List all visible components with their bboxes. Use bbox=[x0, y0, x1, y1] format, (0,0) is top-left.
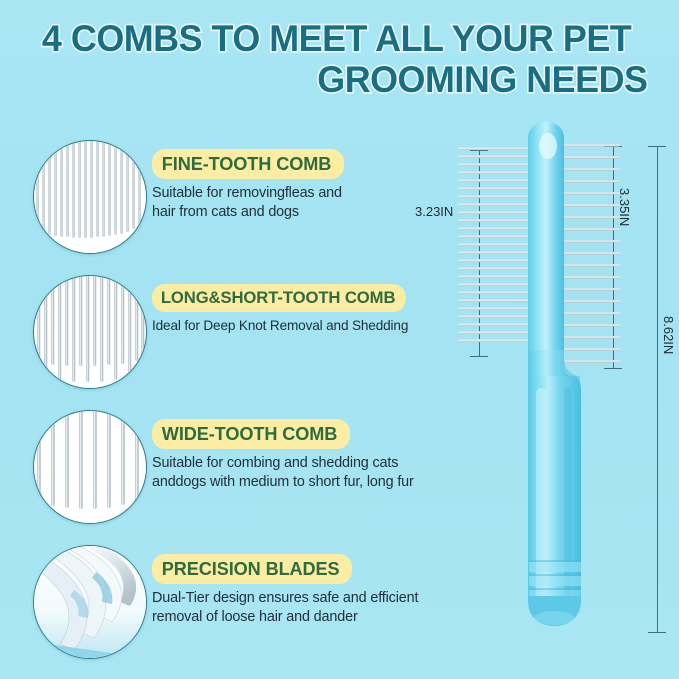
feature-desc-precision-blades: Dual-Tier design ensures safe and effici… bbox=[152, 589, 468, 627]
product-infographic: 4 COMBS TO MEET ALL YOUR PET GROOMING NE… bbox=[0, 0, 679, 679]
long-short-pins-graphic bbox=[34, 276, 146, 388]
fine-tooth-comb-closeup-icon bbox=[33, 140, 147, 254]
feature-long-short-tooth-comb: LONG&SHORT-TOOTH COMB Ideal for Deep Kno… bbox=[0, 270, 470, 400]
blades-graphic bbox=[34, 546, 146, 658]
feature-precision-blades: PRECISION BLADES Dual-Tier design ensure… bbox=[0, 540, 470, 670]
feature-text-wide-tooth: WIDE-TOOTH COMB Suitable for combing and… bbox=[152, 419, 468, 492]
feature-desc-long-short-tooth: Ideal for Deep Knot Removal and Shedding bbox=[152, 317, 468, 335]
comb-illustration bbox=[440, 120, 679, 660]
feature-desc-wide-tooth: Suitable for combing and shedding cats a… bbox=[152, 454, 468, 492]
feature-wide-tooth-comb: WIDE-TOOTH COMB Suitable for combing and… bbox=[0, 405, 470, 535]
feature-text-long-short-tooth: LONG&SHORT-TOOTH COMB Ideal for Deep Kno… bbox=[152, 284, 468, 335]
title-line-1: 4 COMBS TO MEET ALL YOUR PET bbox=[10, 18, 669, 59]
feature-heading-precision-blades: PRECISION BLADES bbox=[152, 554, 352, 584]
poster-title: 4 COMBS TO MEET ALL YOUR PET GROOMING NE… bbox=[0, 18, 679, 101]
product-image-pet-grooming-comb bbox=[440, 120, 679, 660]
fine-tooth-row bbox=[458, 147, 534, 342]
feature-text-precision-blades: PRECISION BLADES Dual-Tier design ensure… bbox=[152, 554, 468, 627]
feature-desc-line-1: Dual-Tier design ensures safe and effici… bbox=[152, 589, 468, 608]
wide-pins-graphic bbox=[34, 411, 146, 523]
feature-desc-line-2: anddogs with medium to short fur, long f… bbox=[152, 473, 468, 492]
feature-heading-long-short-tooth: LONG&SHORT-TOOTH COMB bbox=[152, 284, 406, 312]
long-short-tooth-comb-closeup-icon bbox=[33, 275, 147, 389]
title-line-2: GROOMING NEEDS bbox=[10, 59, 669, 100]
feature-heading-fine-tooth: FINE-TOOTH COMB bbox=[152, 149, 344, 179]
feature-desc-line-1: Suitable for removingfleas and bbox=[152, 184, 468, 203]
feature-desc-line-1: Ideal for Deep Knot Removal and Shedding bbox=[152, 317, 468, 335]
feature-desc-line-2: removal of loose hair and dander bbox=[152, 608, 468, 627]
precision-blades-closeup-icon bbox=[33, 545, 147, 659]
feature-fine-tooth-comb: FINE-TOOTH COMB Suitable for removingfle… bbox=[0, 135, 470, 265]
handle-grip-ridges bbox=[529, 560, 581, 596]
wide-tooth-comb-closeup-icon bbox=[33, 410, 147, 524]
feature-desc-line-1: Suitable for combing and shedding cats bbox=[152, 454, 468, 473]
feature-heading-wide-tooth: WIDE-TOOTH COMB bbox=[152, 419, 350, 449]
fine-pins-graphic bbox=[34, 141, 146, 253]
